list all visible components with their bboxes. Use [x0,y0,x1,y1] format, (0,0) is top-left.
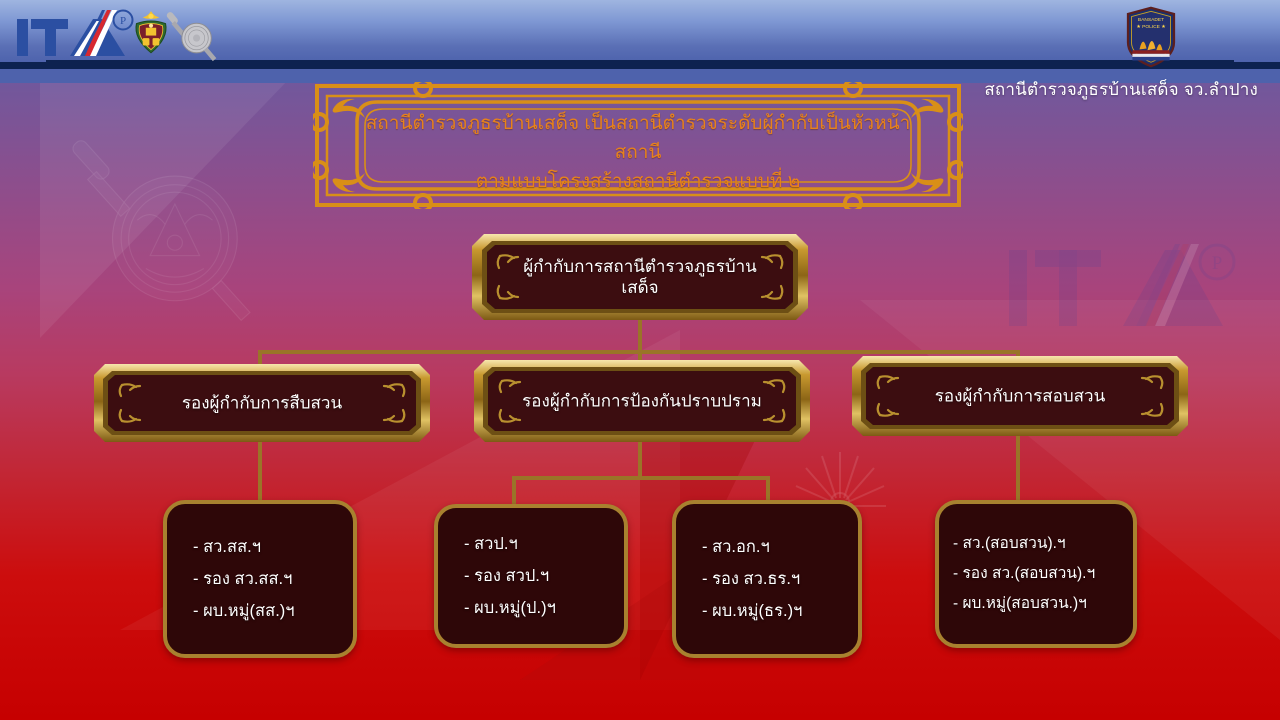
station-name-label: สถานีตำรวจภูธรบ้านเสด็จ จว.ลำปาง [984,76,1258,103]
list-item: - รอง สว.(สอบสวน).ฯ [953,559,1133,589]
plaque-deputy-prevention[interactable]: รองผู้กำกับการป้องกันปราบปราม [474,360,810,442]
list-item: - ผบ.หมู่(ป.)ฯ [464,592,624,624]
plaque-deputy-investigation[interactable]: รองผู้กำกับการสืบสวน [94,364,430,442]
background-triangle-1 [40,78,290,338]
list-item: - รอง สว.สส.ฯ [193,563,353,595]
list-item: - สว.(สอบสวน).ฯ [953,529,1133,559]
list-item: - ผบ.หมู่(สส.)ฯ [193,595,353,627]
connector-deputy1-down [258,436,262,508]
plaque-deputy-inquiry[interactable]: รองผู้กำกับการสอบสวน [852,356,1188,436]
badge-top-text: BANSADET [1138,17,1164,23]
plaque-label: รองผู้กำกับการสอบสวน [852,385,1188,406]
header-rule [0,62,1280,69]
unit-box-admin[interactable]: - สว.อก.ฯ - รอง สว.ธร.ฯ - ผบ.หมู่(ธร.)ฯ [672,500,862,658]
connector-deputy2-down [638,436,642,478]
unit-box-investigation[interactable]: - สว.สส.ฯ - รอง สว.สส.ฯ - ผบ.หมู่(สส.)ฯ [163,500,357,658]
unit-list: - สว.อก.ฯ - รอง สว.ธร.ฯ - ผบ.หมู่(ธร.)ฯ [676,531,858,628]
badge-bottom-text: ★ POLICE ★ [1136,24,1166,30]
unit-list: - สว.สส.ฯ - รอง สว.สส.ฯ - ผบ.หมู่(สส.)ฯ [167,531,353,628]
plaque-label: รองผู้กำกับการสืบสวน [94,392,430,413]
slide-canvas: P P [0,0,1280,720]
list-item: - รอง สวป.ฯ [464,560,624,592]
plaque-label: รองผู้กำกับการป้องกันปราบปราม [474,390,810,411]
connector-deputy3-down [1016,432,1020,508]
banner-line-1: สถานีตำรวจภูธรบ้านเสด็จ เป็นสถานีตำรวจระ… [366,113,911,163]
svg-text:P: P [1212,253,1223,274]
list-item: - สว.อก.ฯ [702,531,858,563]
list-item: - รอง สว.ธร.ฯ [702,563,858,595]
ceremonial-fan-watermark [62,118,277,333]
banner-text: สถานีตำรวจภูธรบ้านเสด็จ เป็นสถานีตำรวจระ… [365,110,911,197]
list-item: - ผบ.หมู่(สอบสวน.)ฯ [953,589,1133,619]
connector-deputy2-bus [512,476,770,480]
plaque-superintendent[interactable]: ผู้กำกับการสถานีตำรวจภูธรบ้านเสด็จ [472,234,808,320]
list-item: - ผบ.หมู่(ธร.)ฯ [702,595,858,627]
banner-line-2: ตามแบบโครงสร้างสถานีตำรวจแบบที่ ๒ [365,168,911,197]
ceremonial-fan-emblem [165,8,221,62]
bansadet-police-badge: BANSADET ★ POLICE ★ [1124,6,1178,68]
unit-box-patrol[interactable]: - สวป.ฯ - รอง สวป.ฯ - ผบ.หมู่(ป.)ฯ [434,504,628,648]
title-banner: สถานีตำรวจภูธรบ้านเสด็จ เป็นสถานีตำรวจระ… [313,82,963,209]
unit-box-inquiry[interactable]: - สว.(สอบสวน).ฯ - รอง สว.(สอบสวน).ฯ - ผบ… [935,500,1137,648]
list-item: - สว.สส.ฯ [193,531,353,563]
list-item: - สวป.ฯ [464,528,624,560]
ita-watermark: P [1005,228,1255,348]
unit-list: - สว.(สอบสวน).ฯ - รอง สว.(สอบสวน).ฯ - ผบ… [939,529,1133,620]
connector-root-down [638,318,642,352]
plaque-label: ผู้กำกับการสถานีตำรวจภูธรบ้านเสด็จ [472,256,808,299]
unit-list: - สวป.ฯ - รอง สวป.ฯ - ผบ.หมู่(ป.)ฯ [438,528,624,625]
